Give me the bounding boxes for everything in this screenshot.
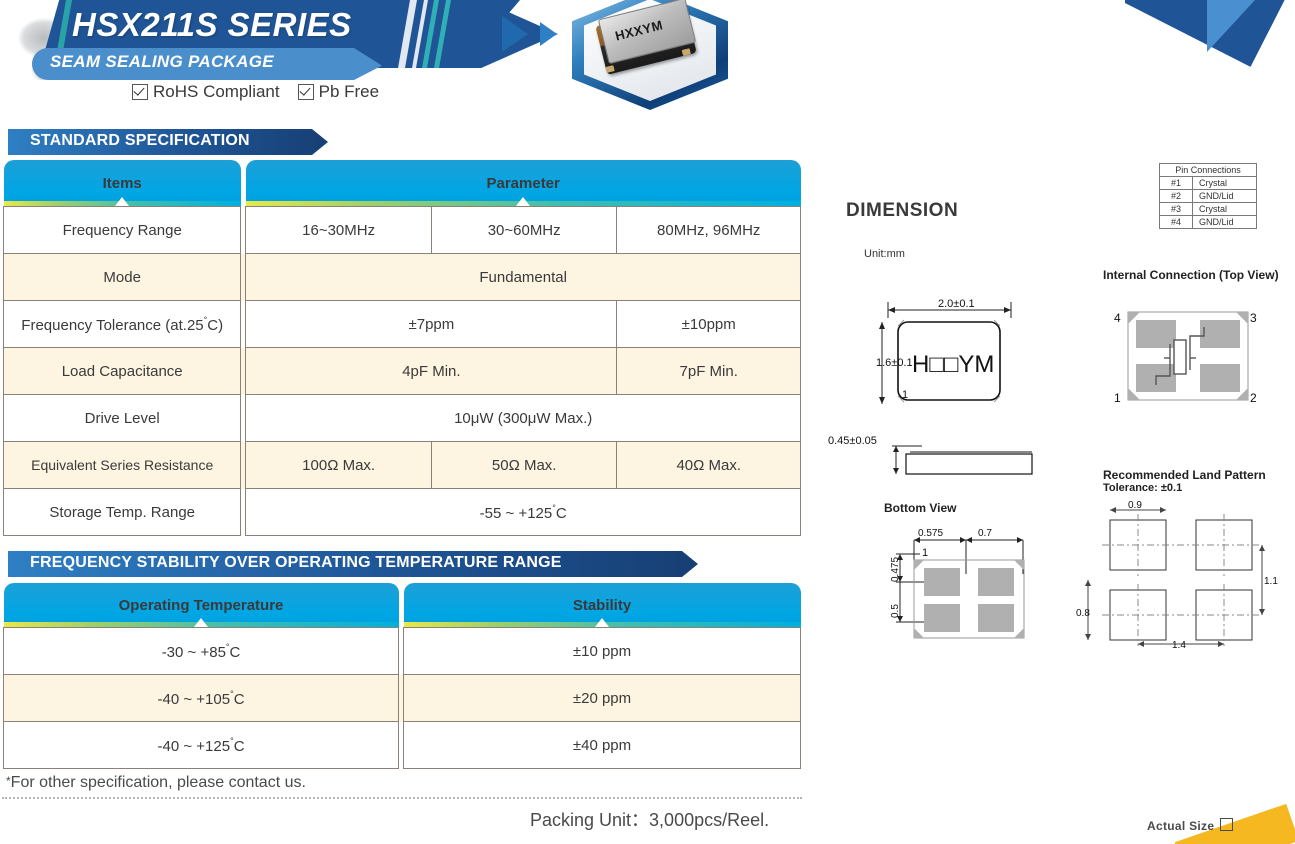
footnote: *For other specification, please contact… (6, 774, 306, 792)
banner-label: FREQUENCY STABILITY OVER OPERATING TEMPE… (30, 554, 562, 572)
row-value-text: -55 ~ +125 (480, 505, 553, 522)
row-value-suffix: C (556, 505, 567, 522)
row-label: Load Capacitance (4, 348, 241, 395)
bottom-pin1-label: 1 (922, 547, 928, 559)
pin-number: #1 (1160, 177, 1193, 190)
side-view-thickness-label: 0.45±0.05 (828, 435, 877, 447)
row-value: 16~30MHz (246, 207, 432, 254)
row-value: ±20 ppm (404, 675, 801, 722)
pin-function: GND/Lid (1193, 190, 1257, 203)
bottom-view-title: Bottom View (884, 501, 956, 515)
package-subtitle: SEAM SEALING PACKAGE (50, 52, 370, 72)
row-value: 4pF Min. (246, 348, 617, 395)
column-header-operating-temperature: Operating Temperature (4, 583, 399, 628)
row-value: 40Ω Max. (617, 442, 801, 489)
pad-3 (978, 604, 1014, 632)
pin-function: Crystal (1193, 203, 1257, 216)
unit-label: Unit:mm (864, 248, 905, 260)
packing-unit-text: Packing Unit：3,000pcs/Reel. (530, 806, 769, 832)
bottom-dim-d-label: 0.5 (890, 604, 901, 618)
table-header-row: Items Parameter (4, 160, 801, 207)
actual-size-label: Actual Size (1147, 819, 1214, 833)
column-header-parameter: Parameter (246, 160, 801, 207)
top-view-pin1-label: 1 (902, 389, 908, 401)
compliance-item-pbfree: Pb Free (298, 82, 379, 102)
internal-connection-title: Internal Connection (Top View) (1103, 268, 1279, 282)
lp-dim-w-label: 0.9 (1128, 500, 1142, 511)
row-label: -40 ~ +125°C (4, 722, 399, 769)
compliance-item-rohs: RoHS Compliant (132, 82, 280, 102)
row-value: ±7ppm (246, 301, 617, 348)
row-value: 7pF Min. (617, 348, 801, 395)
row-label: -40 ~ +105°C (4, 675, 399, 722)
side-view-drawing: 0.45±0.05 (826, 432, 1046, 482)
table-row-temp-125: -40 ~ +125°C ±40 ppm (4, 722, 801, 769)
pad-4 (978, 568, 1014, 596)
chevron-right-icon-small (540, 22, 557, 46)
corner-light-triangle (1207, 0, 1255, 52)
row-label-suffix: C (234, 738, 245, 755)
table-row-load-capacitance: Load Capacitance 4pF Min. 7pF Min. (4, 348, 801, 395)
row-value: ±40 ppm (404, 722, 801, 769)
ic-pad-4 (1136, 320, 1176, 348)
chevron-right-icon-large (502, 16, 528, 52)
lp-dim-v-label: 1.1 (1264, 576, 1278, 587)
section-banner-frequency-stability: FREQUENCY STABILITY OVER OPERATING TEMPE… (8, 551, 698, 577)
side-body (906, 454, 1032, 474)
checkbox-checked-icon (132, 84, 148, 100)
column-header-stability: Stability (404, 583, 801, 628)
land-pattern-drawing: 0.9 0.8 1.1 1.4 (1058, 498, 1278, 648)
row-value: 50Ω Max. (431, 442, 617, 489)
row-value: ±10ppm (617, 301, 801, 348)
land-pattern-tolerance: Tolerance: ±0.1 (1103, 482, 1182, 494)
pin-table-row: #4 GND/Lid (1160, 216, 1257, 229)
table-row-temp-85: -30 ~ +85°C ±10 ppm (4, 628, 801, 675)
land-pattern-title: Recommended Land Pattern (1103, 468, 1266, 482)
header-notch-icon (115, 197, 129, 206)
row-value: 30~60MHz (431, 207, 617, 254)
actual-size-note: Actual Size (1147, 818, 1233, 833)
pin-number: #2 (1160, 190, 1193, 203)
top-right-corner-decoration (1125, 0, 1295, 80)
row-label-suffix: C (230, 644, 241, 661)
lp-dim-span-label: 1.4 (1172, 640, 1186, 648)
top-view-drawing: 2.0±0.1 1.6±0.1 H□□YM 1 (866, 282, 1046, 422)
top-view-marking-label: H□□YM (912, 351, 994, 378)
pin-table-header-row: Pin Connections (1160, 164, 1257, 177)
table-row-frequency-range: Frequency Range 16~30MHz 30~60MHz 80MHz,… (4, 207, 801, 254)
row-value: ±10 ppm (404, 628, 801, 675)
column-header-items: Items (4, 160, 241, 207)
pin-table-row: #3 Crystal (1160, 203, 1257, 216)
row-label: Storage Temp. Range (4, 489, 241, 536)
package-pad-2 (682, 48, 691, 56)
top-view-height-label: 1.6±0.1 (876, 357, 913, 369)
table-row-drive-level: Drive Level 10μW (300μW Max.) (4, 395, 801, 442)
pin-function: Crystal (1193, 177, 1257, 190)
row-label-text: -40 ~ +125 (158, 738, 231, 755)
header-gap (399, 583, 404, 628)
dimension-section-title: DIMENSION (846, 200, 958, 222)
internal-connection-drawing: 4 3 1 2 (1110, 300, 1260, 420)
row-value: -55 ~ +125°C (246, 489, 801, 536)
pin-connections-table: Pin Connections #1 Crystal #2 GND/Lid #3… (1159, 163, 1257, 229)
row-label: Frequency Range (4, 207, 241, 254)
frequency-stability-table: Operating Temperature Stability -30 ~ +8… (3, 583, 801, 769)
ic-pad-3 (1200, 320, 1240, 348)
row-label-text: -30 ~ +85 (162, 644, 226, 661)
pin-number: #4 (1160, 216, 1193, 229)
table-row-temp-105: -40 ~ +105°C ±20 ppm (4, 675, 801, 722)
header-label-items: Items (103, 175, 142, 192)
row-label: Frequency Tolerance (at.25°C) (4, 301, 241, 348)
row-label-text: -40 ~ +105 (158, 691, 231, 708)
pin-function: GND/Lid (1193, 216, 1257, 229)
row-value: 10μW (300μW Max.) (246, 395, 801, 442)
pin-table-row: #2 GND/Lid (1160, 190, 1257, 203)
row-label-suffix: C) (207, 317, 223, 334)
footnote-text: For other specification, please contact … (11, 774, 306, 791)
row-label: -30 ~ +85°C (4, 628, 399, 675)
header-notch-icon (595, 618, 609, 627)
bottom-view-drawing: 0.575 0.7 0.475 0.5 1 (886, 514, 1056, 649)
footnote-divider (2, 797, 802, 799)
ic-pin-label-1: 1 (1114, 391, 1121, 405)
ic-pad-2 (1200, 364, 1240, 392)
row-label-suffix: C (234, 691, 245, 708)
header-label-parameter: Parameter (486, 175, 559, 192)
table-row-storage-temp: Storage Temp. Range -55 ~ +125°C (4, 489, 801, 536)
compliance-row: RoHS Compliant Pb Free (132, 82, 379, 102)
ic-pin-label-2: 2 (1250, 391, 1257, 405)
row-value: 100Ω Max. (246, 442, 432, 489)
row-label: Mode (4, 254, 241, 301)
header-notch-icon (194, 618, 208, 627)
row-label: Drive Level (4, 395, 241, 442)
banner-label: STANDARD SPECIFICATION (30, 132, 250, 150)
compliance-label-pbfree: Pb Free (319, 82, 379, 102)
square-outline-icon (1220, 818, 1233, 831)
compliance-label-rohs: RoHS Compliant (153, 82, 280, 102)
table-row-mode: Mode Fundamental (4, 254, 801, 301)
bottom-dim-b-label: 0.7 (978, 528, 992, 539)
lp-dim-h-label: 0.8 (1076, 608, 1090, 619)
product-photo-badge: HXXYM (572, 0, 728, 110)
pin-number: #3 (1160, 203, 1193, 216)
top-view-width-label: 2.0±0.1 (938, 298, 975, 310)
standard-specification-table: Items Parameter Frequency Range 16~30MHz… (3, 160, 801, 536)
checkbox-checked-icon (298, 84, 314, 100)
pin-table-row: #1 Crystal (1160, 177, 1257, 190)
pin-connections-title: Pin Connections (1160, 164, 1257, 177)
bottom-dim-c-label: 0.475 (890, 557, 901, 582)
header-notch-icon (516, 197, 530, 206)
table-header-row: Operating Temperature Stability (4, 583, 801, 628)
table-row-esr: Equivalent Series Resistance 100Ω Max. 5… (4, 442, 801, 489)
header-label-stability: Stability (573, 597, 631, 614)
header-label-operating-temperature: Operating Temperature (119, 597, 284, 614)
package-marking-text: HXXYM (614, 17, 665, 43)
pad-1 (924, 568, 960, 596)
pad-2 (924, 604, 960, 632)
table-row-frequency-tolerance: Frequency Tolerance (at.25°C) ±7ppm ±10p… (4, 301, 801, 348)
row-label-text: Frequency Tolerance (at.25 (21, 317, 203, 334)
ic-pin-label-3: 3 (1250, 311, 1257, 325)
bottom-dim-a-label: 0.575 (918, 528, 943, 539)
product-series-title: HSX211S SERIES (72, 6, 492, 44)
ic-pin-label-4: 4 (1114, 311, 1121, 325)
section-banner-standard-spec: STANDARD SPECIFICATION (8, 129, 328, 155)
row-label: Equivalent Series Resistance (4, 442, 241, 489)
row-value: 80MHz, 96MHz (617, 207, 801, 254)
row-value: Fundamental (246, 254, 801, 301)
